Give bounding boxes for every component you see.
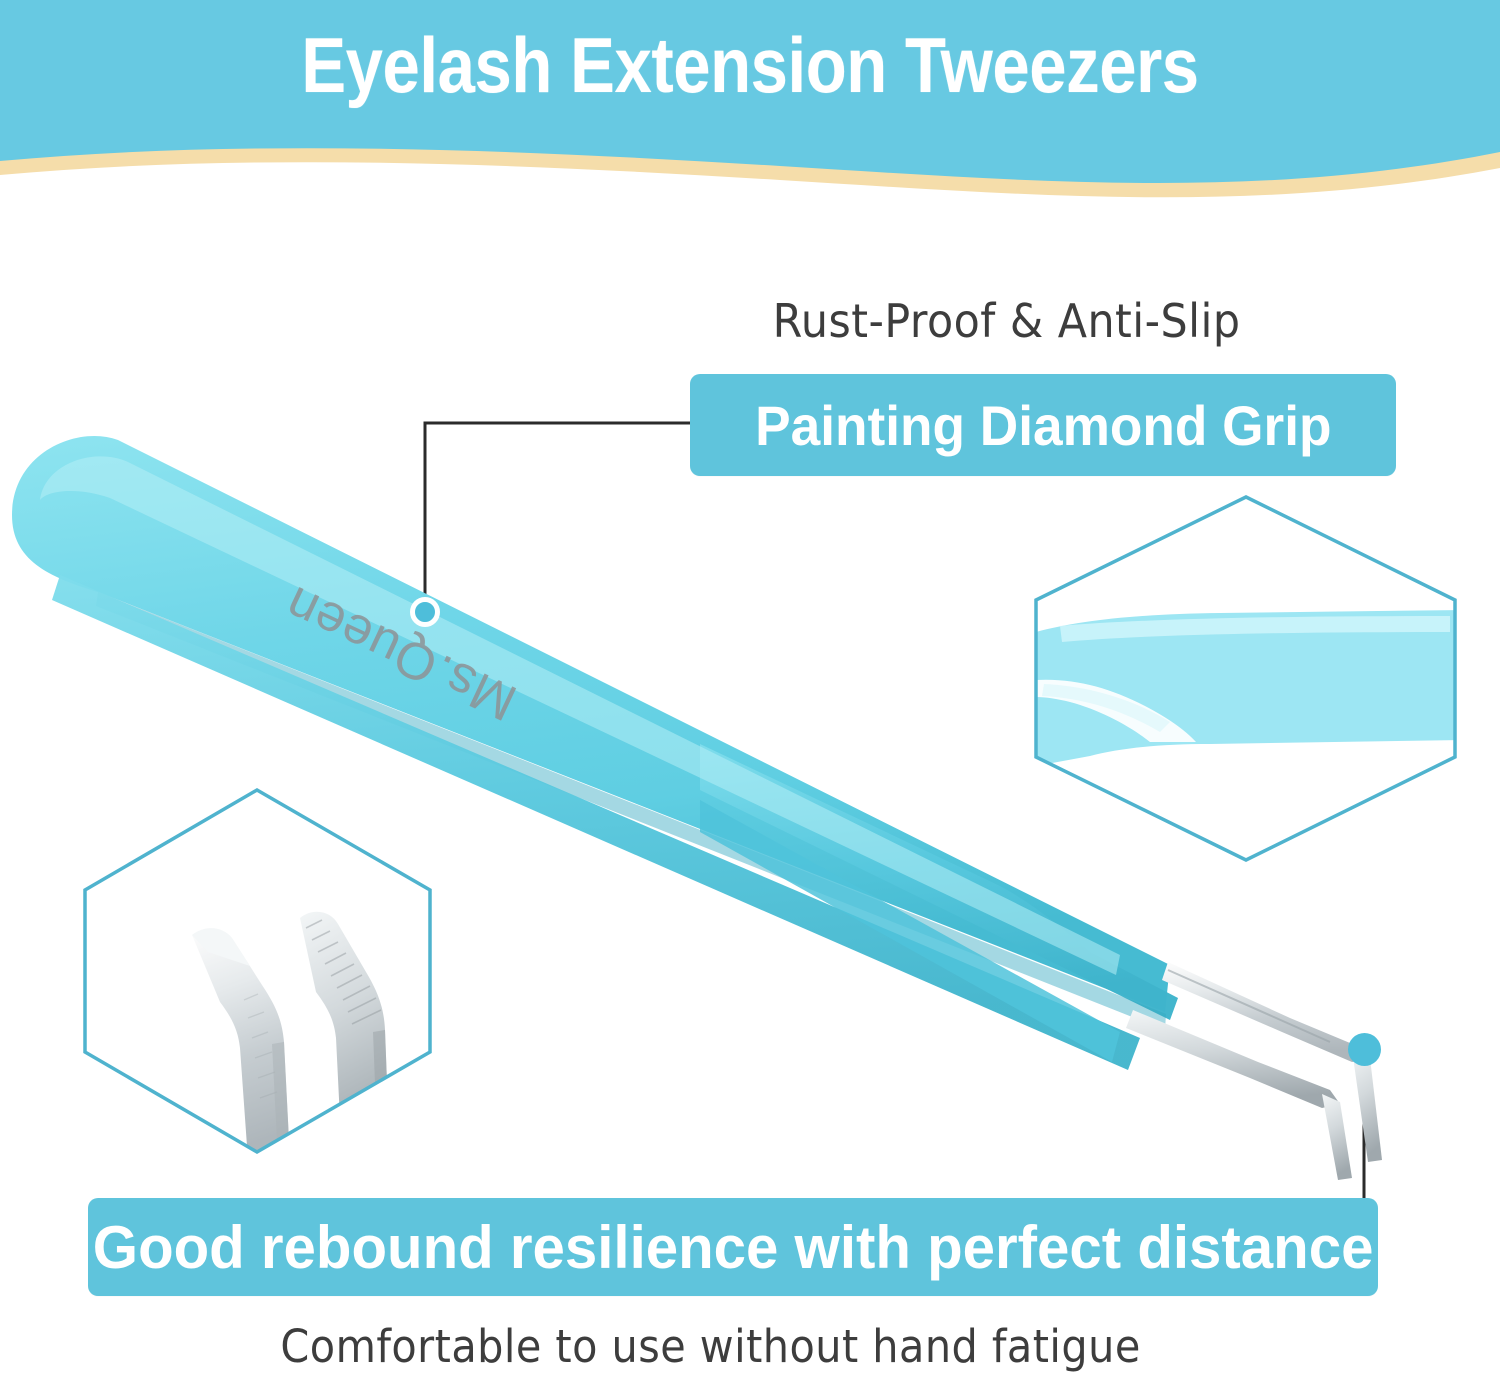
badge-diamond-grip: Painting Diamond Grip [690,374,1396,476]
infographic-canvas: Eyelash Extension Tweezers [0,0,1500,1380]
inset-diamond-grip [1036,497,1460,861]
callout-dot-diamond-grip [410,597,440,627]
badge-rebound-label: Good rebound resilience with perfect dis… [93,1213,1374,1282]
callout-dot-rebound [1348,1033,1381,1066]
product-tweezers-image: Ms.Queen [0,0,1500,1380]
caption-comfort: Comfortable to use without hand fatigue [280,1320,1140,1373]
caption-rust-proof: Rust-Proof & Anti-Slip [773,294,1241,348]
badge-rebound: Good rebound resilience with perfect dis… [88,1198,1378,1296]
badge-diamond-grip-label: Painting Diamond Grip [755,393,1331,458]
inset-tweezer-tips [85,790,430,1160]
